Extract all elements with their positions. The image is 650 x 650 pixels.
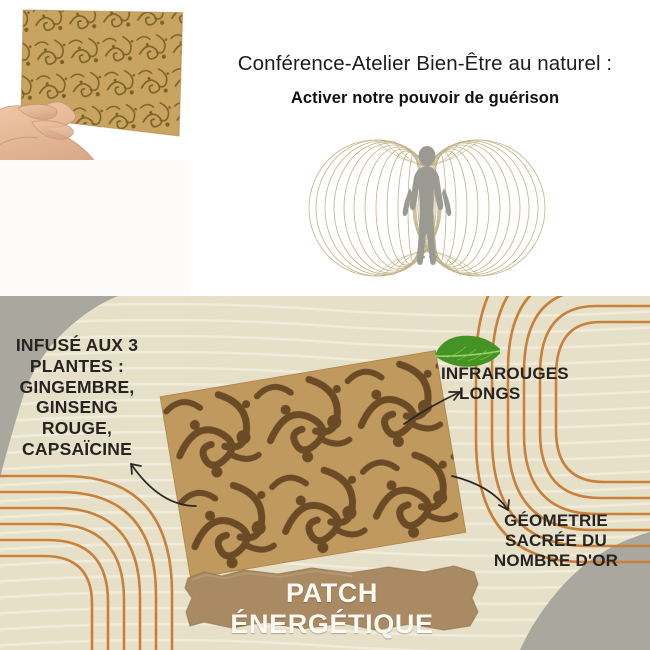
top-section: Conférence-Atelier Bien-Être au naturel … bbox=[0, 0, 650, 296]
page-title: Conférence-Atelier Bien-Être au naturel … bbox=[205, 52, 645, 76]
page-subtitle: Activer notre pouvoir de guérison bbox=[205, 89, 645, 108]
label-infrared-line-2: LONGS bbox=[441, 384, 566, 404]
label-ingredients-line-3: GINGEMBRE, bbox=[4, 377, 150, 398]
label-geometry-line-2: SACRÉE DU bbox=[480, 531, 632, 551]
banner-label: PATCH ÉNERGÉTIQUE bbox=[182, 578, 482, 640]
poster-canvas: Conférence-Atelier Bien-Être au naturel … bbox=[0, 0, 650, 650]
label-geometry-line-3: NOMBRE D'OR bbox=[480, 551, 632, 571]
label-geometry-line-1: GÉOMETRIE bbox=[480, 511, 632, 531]
label-ingredients-line-5: CAPSAÏCINE bbox=[4, 439, 150, 460]
label-ingredients-line-1: INFUSÉ AUX 3 bbox=[4, 335, 150, 356]
label-ingredients-line-2: PLANTES : bbox=[4, 356, 150, 377]
label-infrared-line-1: INFRAROUGES bbox=[441, 364, 566, 384]
label-ingredients: INFUSÉ AUX 3 PLANTES : GINGEMBRE, GINSEN… bbox=[4, 335, 150, 460]
label-infrared: INFRAROUGES LONGS bbox=[441, 364, 566, 404]
label-geometry: GÉOMETRIE SACRÉE DU NOMBRE D'OR bbox=[480, 511, 632, 572]
torus-energy-field-graphic bbox=[283, 126, 571, 290]
hand-holding-patch-photo bbox=[0, 0, 200, 160]
label-ingredients-line-4: GINSENG ROUGE, bbox=[4, 397, 150, 439]
